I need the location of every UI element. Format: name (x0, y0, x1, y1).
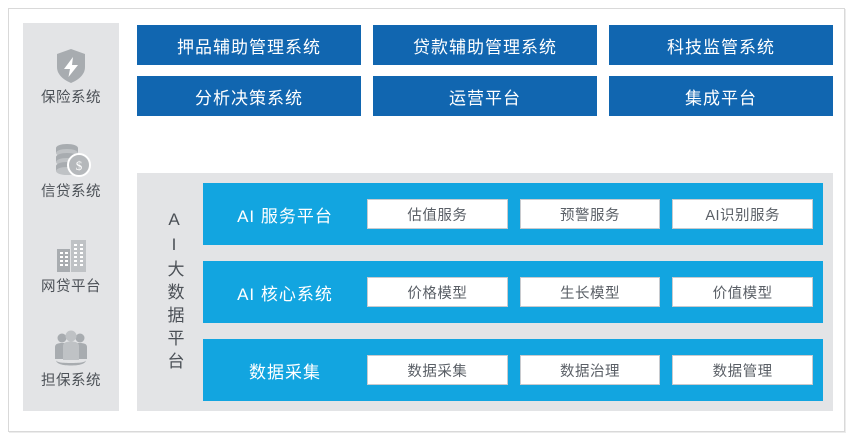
ai-chip[interactable]: 数据采集 (367, 355, 508, 385)
sidebar: 保险系统 $ 信贷系统 (23, 23, 119, 411)
ai-chip[interactable]: 估值服务 (367, 199, 508, 229)
ai-row-chips: 价格模型 生长模型 价值模型 (367, 277, 813, 307)
architecture-diagram: 保险系统 $ 信贷系统 (8, 8, 845, 432)
ai-row-label: AI 核心系统 (203, 280, 367, 305)
sidebar-item-label: 信贷系统 (41, 183, 101, 201)
shield-bolt-icon (49, 46, 93, 86)
coins-dollar-icon: $ (49, 140, 93, 180)
ai-platform-vertical-label: AI大数据平台 (145, 183, 203, 401)
people-group-icon (49, 329, 93, 369)
ai-chip[interactable]: 价值模型 (672, 277, 813, 307)
sidebar-item-label: 保险系统 (41, 89, 101, 107)
ai-row-label: 数据采集 (203, 358, 367, 383)
ai-platform-panel: AI大数据平台 AI 服务平台 估值服务 预警服务 AI识别服务 AI 核心系统… (137, 173, 833, 411)
ai-platform-row: 数据采集 数据采集 数据治理 数据管理 (203, 339, 823, 401)
ai-platform-rows: AI 服务平台 估值服务 预警服务 AI识别服务 AI 核心系统 价格模型 生长… (203, 183, 823, 401)
system-bar[interactable]: 押品辅助管理系统 (137, 25, 361, 65)
ai-chip[interactable]: 数据管理 (672, 355, 813, 385)
svg-text:$: $ (76, 158, 83, 173)
system-bars: 押品辅助管理系统 贷款辅助管理系统 科技监管系统 分析决策系统 运营平台 集成平… (137, 25, 833, 127)
ai-platform-row: AI 核心系统 价格模型 生长模型 价值模型 (203, 261, 823, 323)
system-bar[interactable]: 集成平台 (609, 76, 833, 116)
ai-chip[interactable]: 数据治理 (520, 355, 661, 385)
ai-chip[interactable]: AI识别服务 (672, 199, 813, 229)
ai-chip[interactable]: 预警服务 (520, 199, 661, 229)
sidebar-item-label: 担保系统 (41, 372, 101, 390)
ai-row-label: AI 服务平台 (203, 202, 367, 227)
sidebar-item-guarantee[interactable]: 担保系统 (25, 329, 117, 390)
sidebar-item-label: 网贷平台 (41, 278, 101, 296)
ai-chip[interactable]: 价格模型 (367, 277, 508, 307)
ai-platform-vertical-label-text: AI大数据平台 (166, 210, 183, 375)
sidebar-item-insurance[interactable]: 保险系统 (25, 46, 117, 107)
system-bar[interactable]: 科技监管系统 (609, 25, 833, 65)
system-bar[interactable]: 运营平台 (373, 76, 597, 116)
buildings-icon (49, 235, 93, 275)
system-bar-row-1: 押品辅助管理系统 贷款辅助管理系统 科技监管系统 (137, 25, 833, 65)
sidebar-item-online-loan[interactable]: 网贷平台 (25, 235, 117, 296)
ai-platform-row: AI 服务平台 估值服务 预警服务 AI识别服务 (203, 183, 823, 245)
sidebar-item-credit[interactable]: $ 信贷系统 (25, 140, 117, 201)
system-bar[interactable]: 分析决策系统 (137, 76, 361, 116)
ai-row-chips: 估值服务 预警服务 AI识别服务 (367, 199, 813, 229)
ai-chip[interactable]: 生长模型 (520, 277, 661, 307)
system-bar-row-2: 分析决策系统 运营平台 集成平台 (137, 76, 833, 116)
system-bar[interactable]: 贷款辅助管理系统 (373, 25, 597, 65)
ai-row-chips: 数据采集 数据治理 数据管理 (367, 355, 813, 385)
